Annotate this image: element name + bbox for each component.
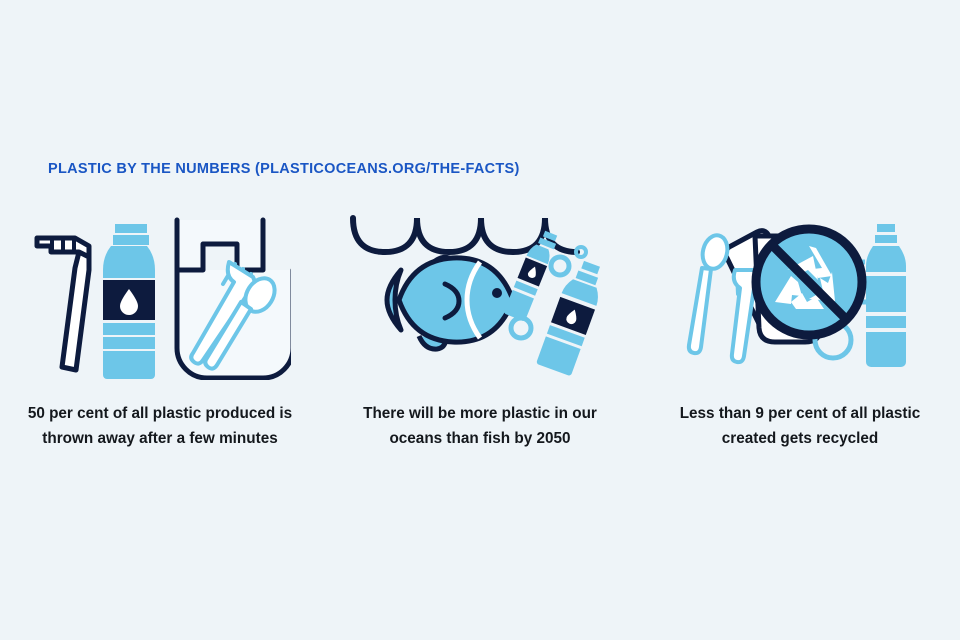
panel-ocean-plastic: There will be more plastic in our oceans… <box>320 210 640 452</box>
no-recycling-waste-illustration <box>665 210 935 380</box>
water-bottle-icon <box>536 257 609 376</box>
fish-icon <box>387 257 513 349</box>
panel-recycling: Less than 9 per cent of all plastic crea… <box>640 210 960 452</box>
infographic-root: PLASTIC BY THE NUMBERS (PLASTICOCEANS.OR… <box>0 0 960 640</box>
water-bottle-icon <box>866 224 906 367</box>
bendy-straw-icon <box>37 238 89 370</box>
plastic-bag-icon <box>177 220 291 378</box>
straw-bottle-bag-illustration <box>25 210 295 380</box>
water-bottle-icon <box>103 224 155 379</box>
fish-and-bottles-in-ocean-illustration <box>345 210 615 380</box>
panel-caption: 50 per cent of all plastic produced is t… <box>20 402 300 452</box>
no-recycling-icon <box>756 229 862 335</box>
page-title: PLASTIC BY THE NUMBERS (PLASTICOCEANS.OR… <box>48 161 520 177</box>
panel-caption: Less than 9 per cent of all plastic crea… <box>664 402 936 452</box>
panel-row: 50 per cent of all plastic produced is t… <box>0 210 960 452</box>
panel-caption: There will be more plastic in our oceans… <box>344 402 616 452</box>
wave-icon <box>353 218 577 252</box>
spoon-icon <box>689 233 731 354</box>
panel-single-use-items: 50 per cent of all plastic produced is t… <box>0 210 320 452</box>
water-bottle-icon <box>503 228 559 322</box>
